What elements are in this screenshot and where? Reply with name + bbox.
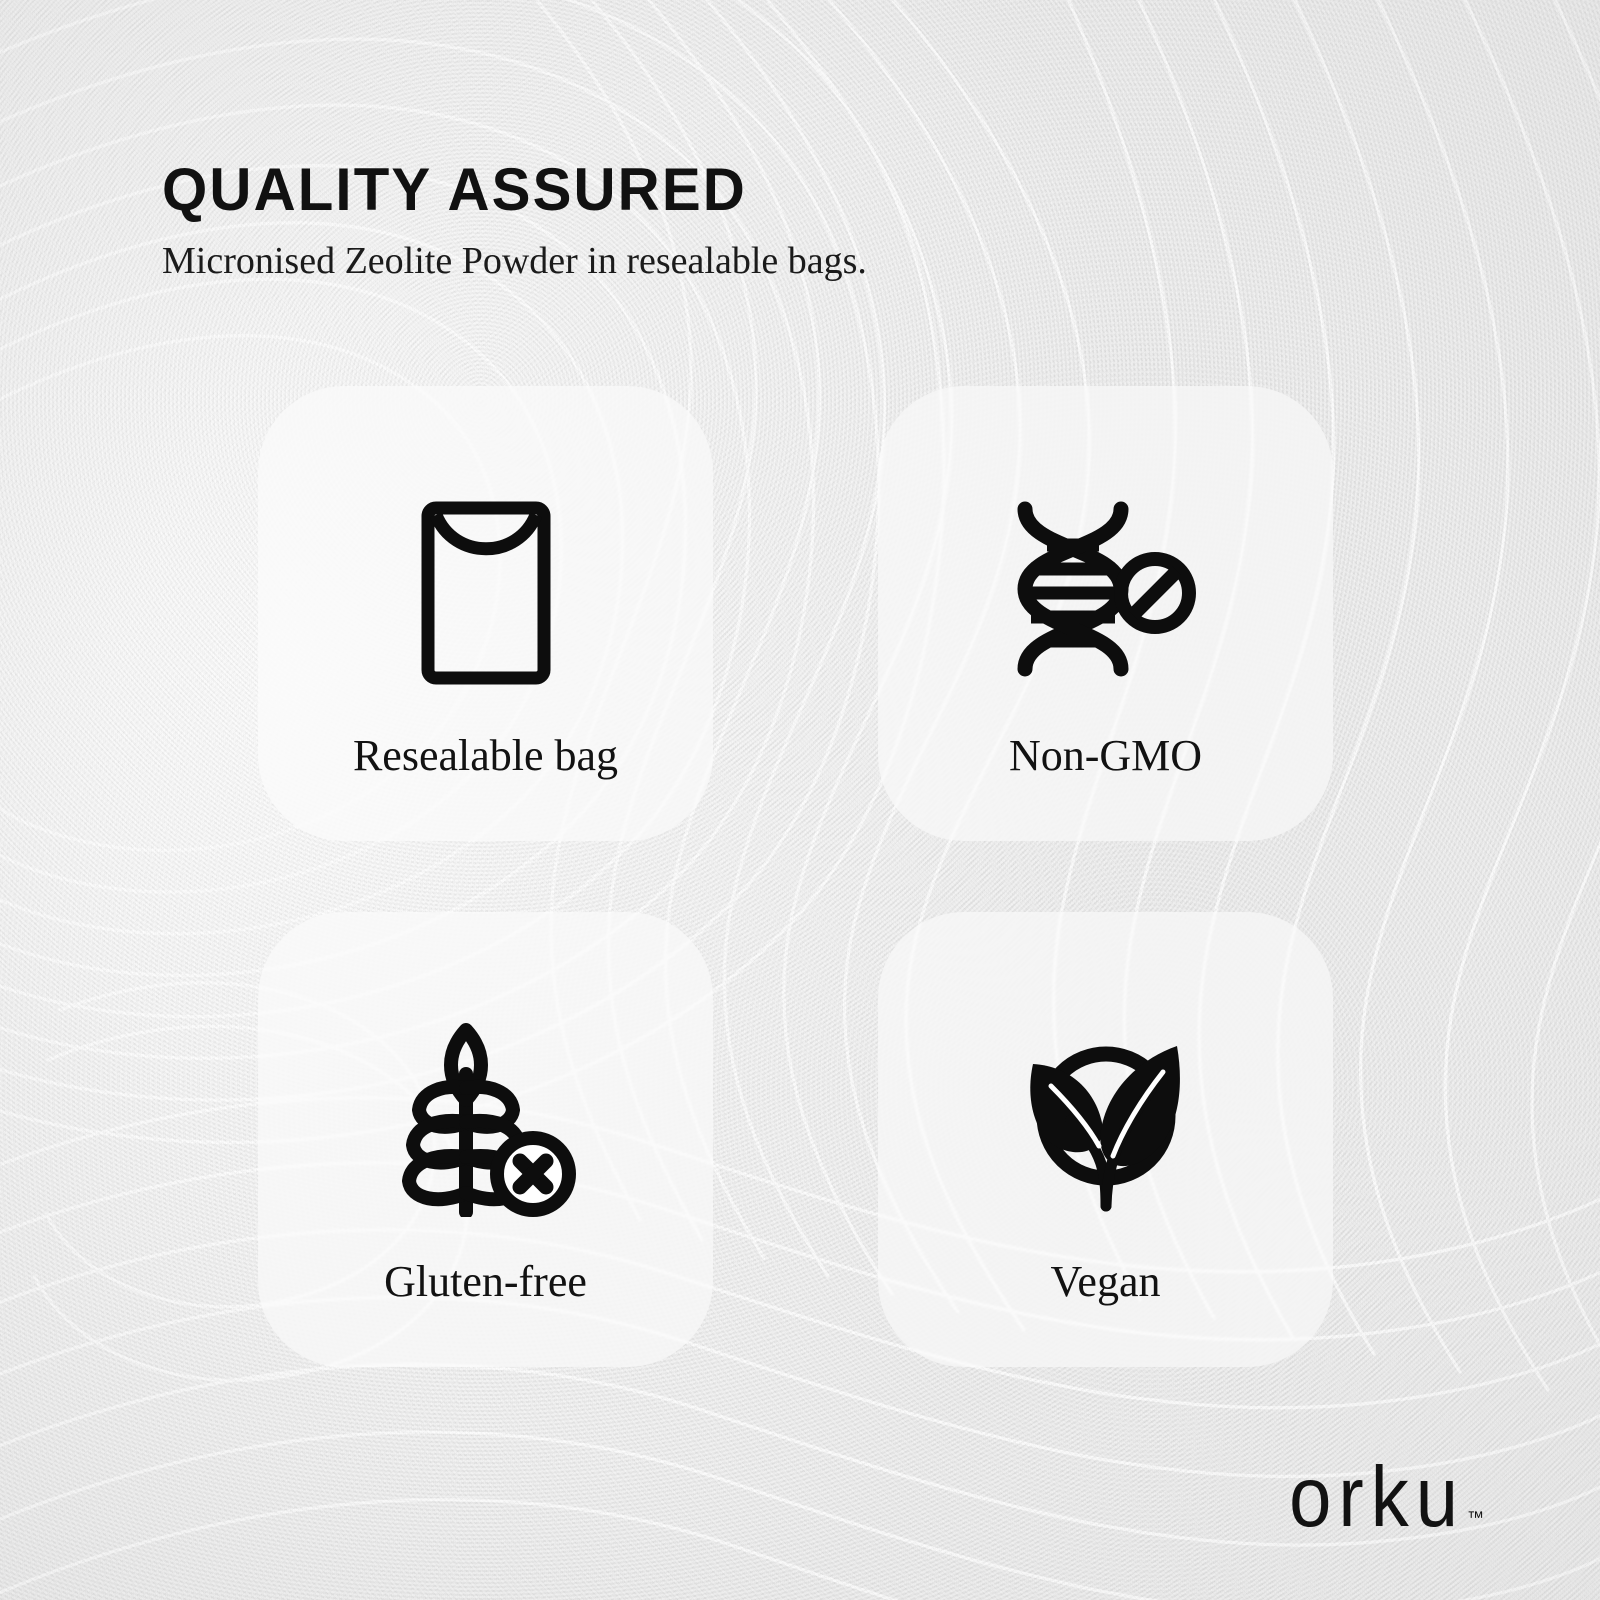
feature-label: Vegan (1051, 1260, 1161, 1304)
feature-label: Resealable bag (353, 734, 618, 778)
product-feature-graphic: QUALITY ASSURED Micronised Zeolite Powde… (0, 0, 1600, 1600)
page-subtitle: Micronised Zeolite Powder in resealable … (162, 242, 867, 280)
brand-logo: orku ™ (1289, 1469, 1484, 1534)
dna-no-gmo-icon (878, 478, 1333, 708)
feature-grid: Resealable bag (258, 386, 1348, 1326)
feature-card-gluten-free[interactable]: Gluten-free (258, 912, 713, 1367)
resealable-bag-icon (258, 478, 713, 708)
feature-card-non-gmo[interactable]: Non-GMO (878, 386, 1333, 841)
header: QUALITY ASSURED Micronised Zeolite Powde… (162, 160, 867, 280)
wheat-crossed-out-icon (258, 1004, 713, 1234)
brand-name: orku (1289, 1461, 1465, 1534)
feature-card-resealable-bag[interactable]: Resealable bag (258, 386, 713, 841)
trademark-symbol: ™ (1467, 1508, 1484, 1528)
page-title: QUALITY ASSURED (162, 160, 846, 220)
feature-label: Gluten-free (384, 1260, 587, 1304)
feature-label: Non-GMO (1009, 734, 1202, 778)
feature-card-vegan[interactable]: Vegan (878, 912, 1333, 1367)
leaf-circle-icon (878, 1004, 1333, 1234)
